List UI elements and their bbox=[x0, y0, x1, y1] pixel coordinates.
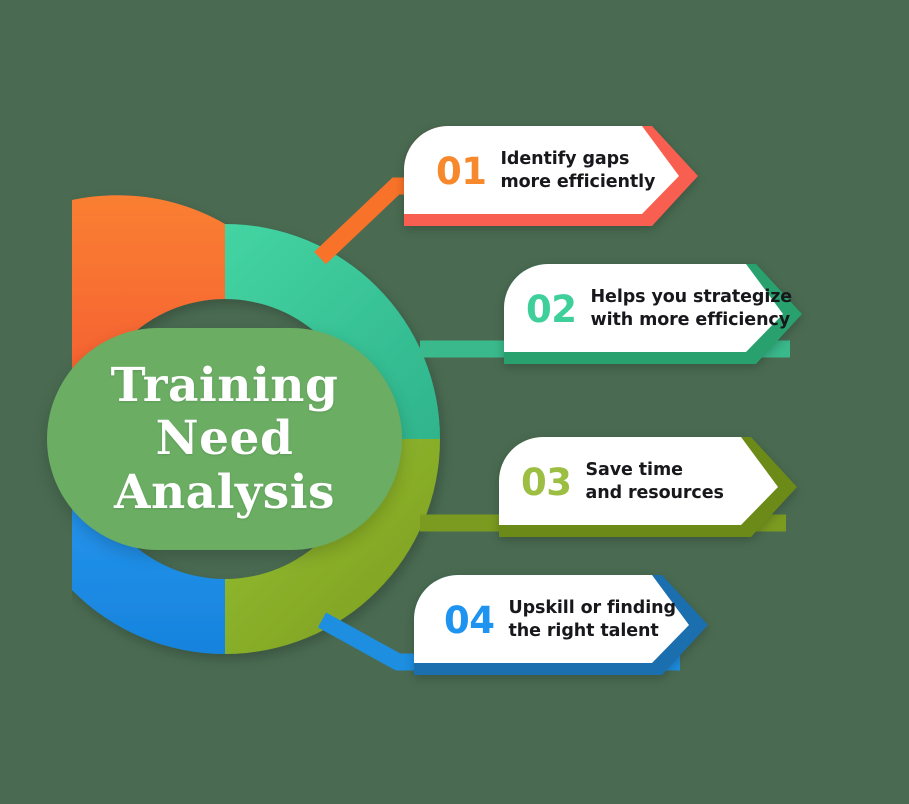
card-02-number: 02 bbox=[526, 291, 577, 328]
card-02-text: Helps you strategize with more efficienc… bbox=[591, 286, 793, 333]
card-03-text: Save time and resources bbox=[586, 459, 724, 506]
card-03-shape: 03 Save time and resources bbox=[499, 437, 799, 528]
card-04-content: 04 Upskill or finding the right talent bbox=[414, 575, 710, 666]
infographic-canvas: Training Need Analysis 01 Identify gaps … bbox=[0, 0, 909, 804]
callout-card-04[interactable]: 04 Upskill or finding the right talent bbox=[414, 575, 710, 666]
card-01-text: Identify gaps more efficiently bbox=[501, 148, 656, 195]
card-02-content: 02 Helps you strategize with more effici… bbox=[504, 264, 804, 355]
card-03-content: 03 Save time and resources bbox=[499, 437, 799, 528]
card-01-number: 01 bbox=[436, 153, 487, 190]
callout-card-03[interactable]: 03 Save time and resources bbox=[499, 437, 799, 528]
card-01-content: 01 Identify gaps more efficiently bbox=[404, 126, 700, 217]
card-04-shape: 04 Upskill or finding the right talent bbox=[414, 575, 710, 666]
card-04-text: Upskill or finding the right talent bbox=[509, 597, 676, 644]
card-04-number: 04 bbox=[444, 602, 495, 639]
center-hub[interactable]: Training Need Analysis bbox=[47, 328, 402, 550]
card-03-number: 03 bbox=[521, 464, 572, 501]
page-title: Training Need Analysis bbox=[111, 359, 339, 520]
callout-card-01[interactable]: 01 Identify gaps more efficiently bbox=[404, 126, 700, 217]
callout-card-02[interactable]: 02 Helps you strategize with more effici… bbox=[504, 264, 804, 355]
card-01-shape: 01 Identify gaps more efficiently bbox=[404, 126, 700, 217]
card-02-shape: 02 Helps you strategize with more effici… bbox=[504, 264, 804, 355]
